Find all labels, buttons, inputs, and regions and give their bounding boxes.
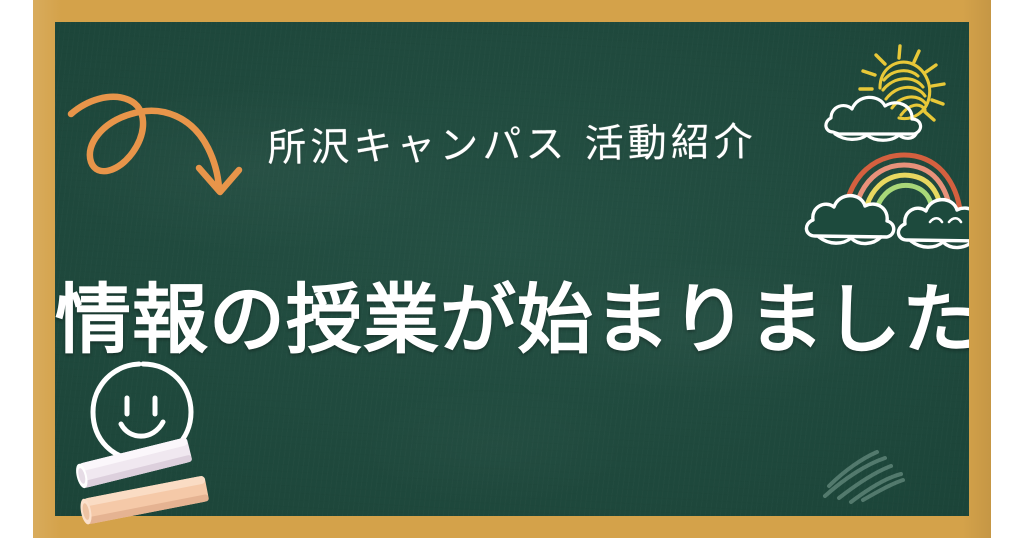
subtitle-text: 所沢キャンパス 活動紹介 <box>55 108 969 175</box>
poster-canvas: 所沢キャンパス 活動紹介 情報の授業が始まりました <box>0 0 1024 538</box>
page-title: 情報の授業が始まりました <box>55 258 969 368</box>
chalk-smudge-scribble-icon <box>805 434 935 516</box>
chalk-sticks-group <box>20 410 220 543</box>
